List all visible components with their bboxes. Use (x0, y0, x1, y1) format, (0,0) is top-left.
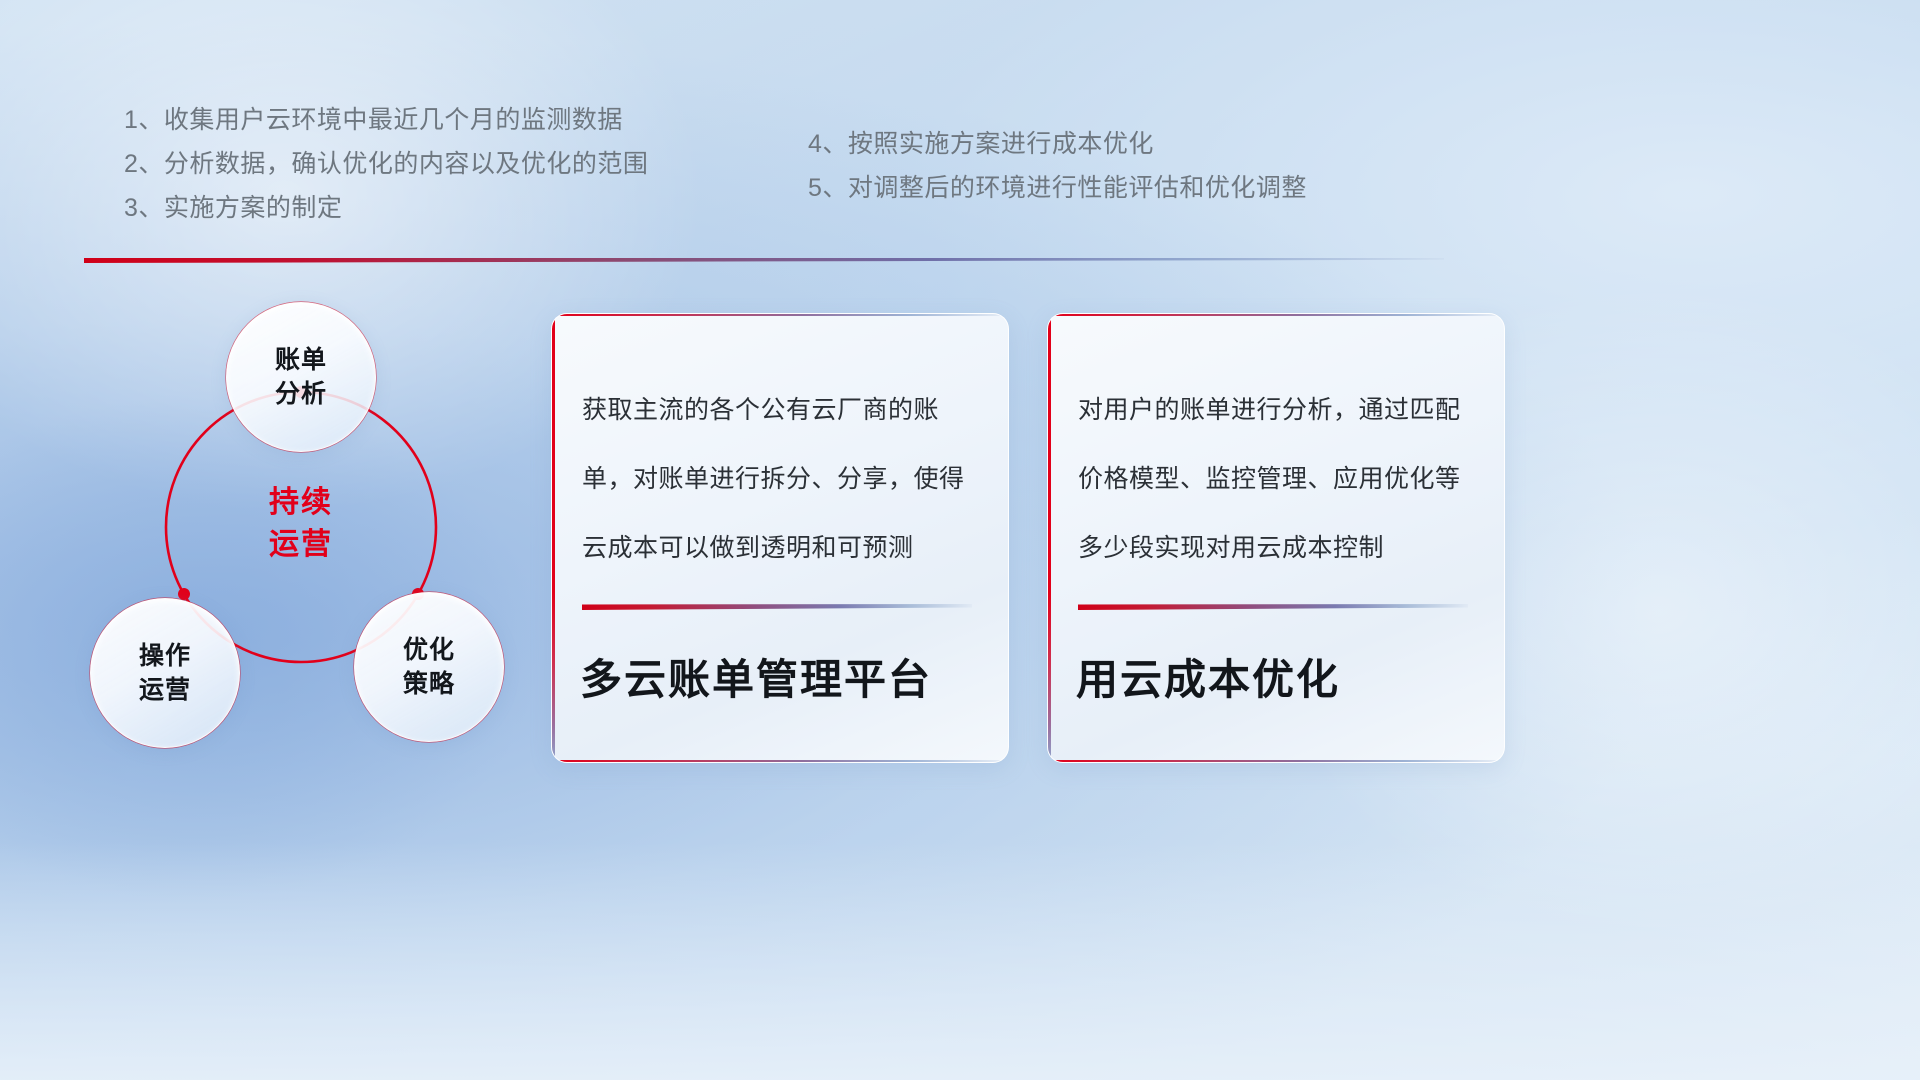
card-left-accent-bar (1048, 314, 1051, 762)
card-left-accent-bar (552, 314, 555, 762)
card-cloud-cost-optimization[interactable]: 对用户的账单进行分析，通过匹配价格模型、监控管理、应用优化等多少段实现对用云成本… (1047, 313, 1505, 763)
card-bottom-accent-bar (552, 760, 1008, 762)
diagram-center-label-line2: 运营 (226, 524, 376, 566)
card-title: 用云成本优化 (1076, 652, 1484, 708)
section-divider-rule (84, 258, 1444, 263)
bubble-billing-analysis[interactable]: 账单 分析 (226, 302, 376, 452)
ring-node-bottom-left-dot (178, 588, 190, 600)
card-top-accent-bar (1048, 314, 1504, 316)
card-bottom-accent-bar (1048, 760, 1504, 762)
card-body-text: 获取主流的各个公有云厂商的账单，对账单进行拆分、分享，使得云成本可以做到透明和可… (582, 376, 984, 583)
step-item-2: 2、分析数据，确认优化的内容以及优化的范围 (124, 142, 844, 186)
card-body-text: 对用户的账单进行分析，通过匹配价格模型、监控管理、应用优化等多少段实现对用云成本… (1078, 376, 1480, 583)
card-multi-cloud-billing-platform[interactable]: 获取主流的各个公有云厂商的账单，对账单进行拆分、分享，使得云成本可以做到透明和可… (551, 313, 1009, 763)
bubble-operations-line2: 运营 (139, 673, 191, 707)
bubble-operations[interactable]: 操作 运营 (90, 598, 240, 748)
step-item-4: 4、按照实施方案进行成本优化 (808, 122, 1508, 166)
bubble-billing-analysis-line1: 账单 (275, 343, 327, 377)
step-item-1: 1、收集用户云环境中最近几个月的监测数据 (124, 98, 844, 142)
continuous-operation-diagram: 账单 分析 操作 运营 优化 策略 持续 运营 (78, 292, 548, 762)
card-divider-rule (1078, 604, 1468, 610)
bubble-optimization-strategy[interactable]: 优化 策略 (354, 592, 504, 742)
step-item-5: 5、对调整后的环境进行性能评估和优化调整 (808, 166, 1508, 210)
card-divider-rule (582, 604, 972, 610)
step-item-3: 3、实施方案的制定 (124, 186, 844, 230)
card-title: 多云账单管理平台 (580, 652, 988, 708)
bubble-optimization-strategy-line1: 优化 (403, 633, 455, 667)
diagram-center-label: 持续 运营 (226, 482, 376, 566)
slide-content: 1、收集用户云环境中最近几个月的监测数据 2、分析数据，确认优化的内容以及优化的… (0, 0, 1920, 1080)
card-top-accent-bar (552, 314, 1008, 316)
steps-left-column: 1、收集用户云环境中最近几个月的监测数据 2、分析数据，确认优化的内容以及优化的… (124, 98, 844, 230)
steps-right-column: 4、按照实施方案进行成本优化 5、对调整后的环境进行性能评估和优化调整 (808, 122, 1508, 210)
diagram-center-label-line1: 持续 (226, 482, 376, 524)
bubble-billing-analysis-line2: 分析 (275, 377, 327, 411)
bubble-optimization-strategy-line2: 策略 (403, 667, 455, 701)
bubble-operations-line1: 操作 (139, 639, 191, 673)
